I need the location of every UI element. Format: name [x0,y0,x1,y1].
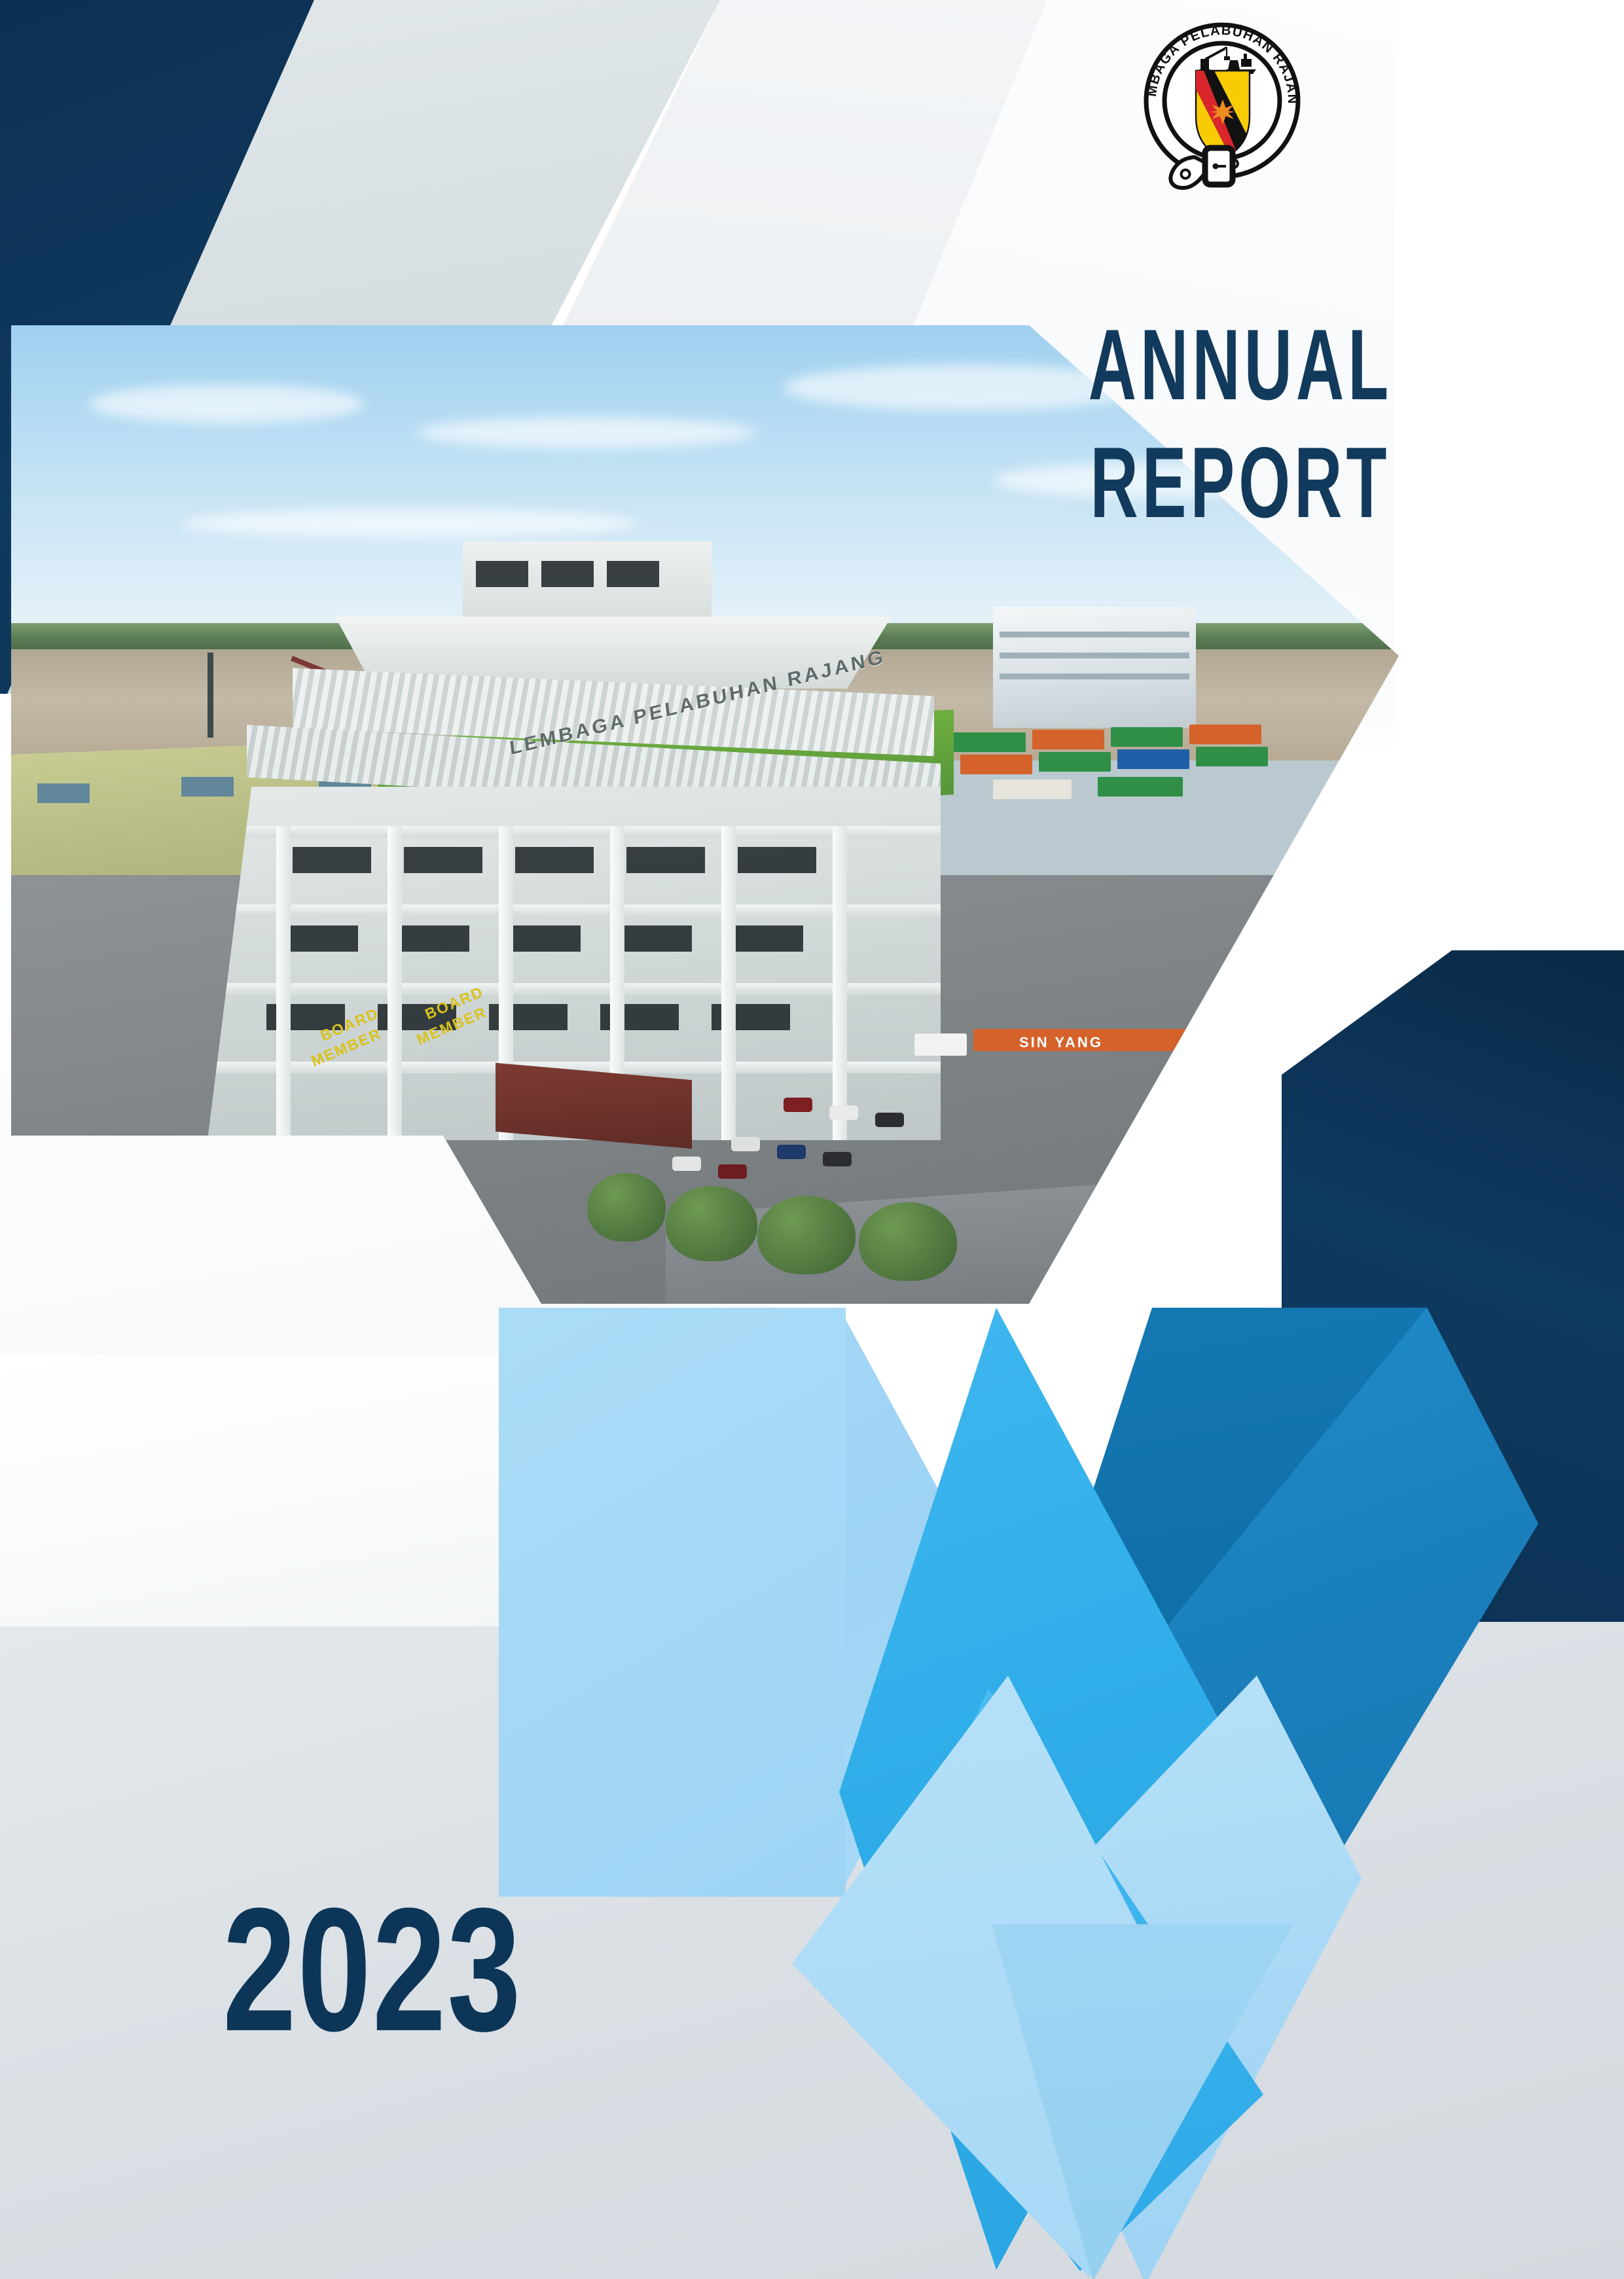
photo-car [718,1164,747,1179]
photo-container-label: SIN YANG [1019,1034,1103,1051]
photo-roof-panel [181,777,234,797]
photo-truck-cab [914,1033,967,1056]
photo-container [1111,727,1183,747]
photo-building-band [1000,673,1189,679]
photo-tree [666,1186,757,1261]
photo-container [993,780,1072,799]
photo-car [672,1157,701,1171]
photo-cloud [90,384,365,423]
photo-car [829,1105,858,1120]
photo-container [1196,747,1268,766]
photo-building-band [1000,632,1189,637]
photo-car [875,1113,904,1127]
diamond-light-fill [499,1308,846,1897]
title-line-annual: ANNUAL [1018,314,1462,416]
photo-container [1117,749,1189,769]
photo-crane-mast [208,653,213,738]
photo-car [777,1145,806,1159]
photo-window [476,561,528,587]
photo-background-building [993,607,1196,728]
photo-container [1098,777,1183,797]
photo-cloud [181,509,640,537]
page-title: ANNUAL REPORT [982,326,1499,523]
lembaga-pelabuhan-rajang-seal-logo: LEMBAGA PELABUHAN RAJANG [1134,18,1310,194]
photo-building-band [1000,653,1189,658]
photo-window [541,561,594,587]
photo-car [823,1152,852,1166]
title-line-report: REPORT [1018,432,1462,534]
photo-tree [587,1173,666,1242]
photo-container [954,732,1026,752]
annual-report-cover: LEMBAGA PELABUHAN RAJANG [0,0,1624,2279]
report-year: 2023 [223,1882,522,2057]
photo-container [960,755,1032,774]
photo-container [1189,725,1261,744]
photo-cloud [417,417,757,448]
photo-car [731,1137,760,1151]
photo-roof-panel [37,783,90,803]
photo-tree [859,1202,957,1281]
photo-window [607,561,659,587]
photo-car [784,1098,812,1112]
photo-tree [757,1196,856,1274]
photo-container [1039,752,1111,772]
photo-container [1032,730,1104,749]
